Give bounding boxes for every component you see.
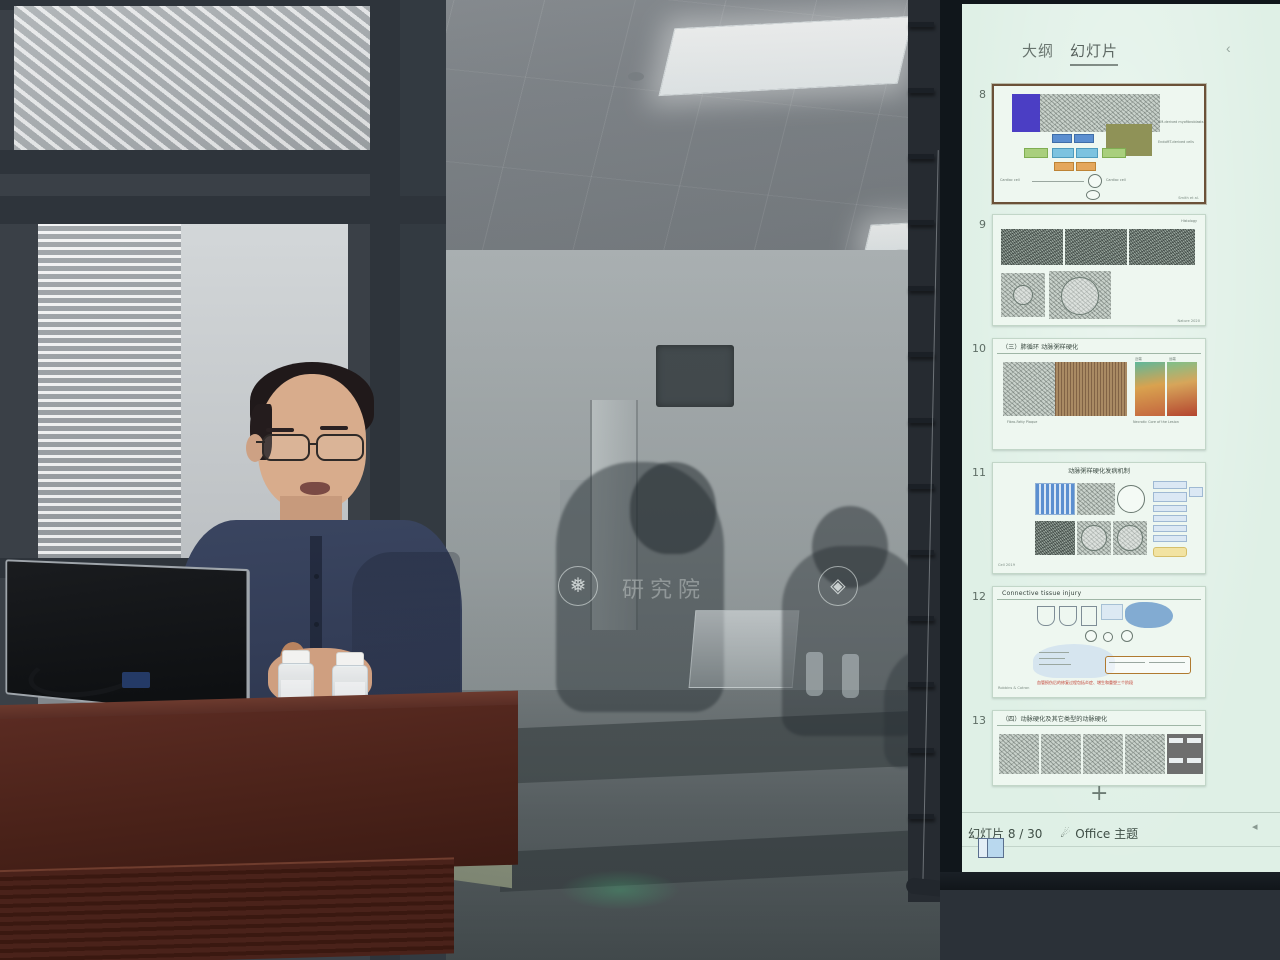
wall-mounted-display [656,345,734,407]
green-floor-reflection [560,870,680,910]
shirt-button-2 [314,622,319,627]
slide-thumbnail-list[interactable]: 8 Cardi [962,66,1280,816]
presenter-mouth-speaking [300,482,330,495]
slide-thumbnail-8[interactable]: Cardiac cell Cardiac cell CM-derived myo… [992,84,1206,204]
slide-number: 10 [962,338,992,355]
slide-number: 12 [962,586,992,603]
slide-credit: Cell 2019 [998,563,1015,567]
conference-room-scene: ❅ ◈ 研究院 [0,0,960,960]
slide-credit: Robbins & Cotran [998,686,1029,690]
window-frame-lower [0,196,446,224]
slide-thumbnail-11[interactable]: 动脉粥样硬化发病机制 [992,462,1206,574]
podium-front-panel [0,705,518,880]
slide-credit: Nature 2020 [1178,319,1200,323]
window-blinds-upper [14,6,384,154]
slide-thumbnail-row[interactable]: 10 （三）肺循环 动脉粥样硬化 近端 远端 Fibro-Fatty Plaqu… [962,338,1280,450]
slide-number: 11 [962,462,992,479]
slide-content: Cell 2019 [993,477,1205,569]
slide-red-annotation: 血管损伤后的修复过程包括炎症、增生和重塑三个阶段 [1037,680,1133,686]
reflection-head-left [630,462,716,554]
slide-thumbnail-row[interactable]: 8 Cardi [962,84,1280,204]
theme-label: Office 主题 [1075,825,1138,842]
normal-view-icon[interactable] [978,838,1004,858]
tab-outline[interactable]: 大纲 [1022,40,1054,64]
reflection-bottle-a [806,652,823,696]
smoke-detector-icon [628,72,644,81]
glasses-lens-right [316,434,364,461]
slide-number: 8 [962,84,992,101]
wall-below-screen [940,890,1280,960]
podium [0,698,518,960]
snowflake-logo-icon: ❅ [558,566,598,606]
cable-label-tag [122,672,150,688]
slide-number: 9 [962,214,992,231]
chevron-left-small-icon[interactable]: ◂ [1252,820,1258,833]
diamond-logo-icon: ◈ [818,566,858,606]
slide-thumbnail-9[interactable]: Histology Nature 2020 [992,214,1206,326]
tab-slides[interactable]: 幻灯片 [1070,40,1118,66]
ceiling-light-panel [658,16,913,96]
chevron-left-icon[interactable]: ‹ [1226,40,1231,56]
slide-thumbnail-row[interactable]: 12 Connective tissue injury [962,586,1280,698]
window-blinds-lower [38,222,181,562]
glasses-bridge [310,443,318,445]
status-divider-lower [962,846,1280,847]
theme-icon: ☄ [1060,827,1070,840]
reflection-wall-signage: 研究院 [622,572,706,604]
view-icon-right-pane [988,839,1003,857]
presenter-glasses [256,434,374,462]
presenter-eyebrow-left [266,428,294,432]
slide-number: 13 [962,710,992,727]
slide-content: 血管损伤后的修复过程包括炎症、增生和重塑三个阶段 Robbins & Cotra… [993,600,1205,692]
slide-title: 动脉粥样硬化发病机制 [997,463,1201,477]
slide-caption-right: Necrotic Core of the Lesion [1133,420,1179,424]
slide-content [993,726,1205,782]
status-bar: 幻灯片 8 / 30 ☄ Office 主题 [962,818,1280,848]
panel-tabs: 大纲 幻灯片 [1022,40,1118,66]
slide-header-note: Histology [1181,219,1197,223]
podium-laptop[interactable] [5,559,249,719]
slide-thumbnail-row[interactable]: 11 动脉粥样硬化发病机制 [962,462,1280,574]
slide-content: Cardiac cell Cardiac cell CM-derived myo… [994,86,1204,202]
callout-label-1: CM-derived myofibroblasts [1158,120,1204,124]
presenter-eyebrow-right [320,426,348,430]
slide-thumbnail-12[interactable]: Connective tissue injury [992,586,1206,698]
slide-content: 近端 远端 Fibro-Fatty Plaque Necrotic Core o… [993,354,1205,446]
diagram-label-right: Cardiac cell [1106,178,1126,182]
slide-caption-left: Fibro-Fatty Plaque [1007,420,1037,424]
slide-thumbnail-10[interactable]: （三）肺循环 动脉粥样硬化 近端 远端 Fibro-Fatty Plaque N… [992,338,1206,450]
slide-thumbnail-row[interactable]: 9 Histology Nature 2020 [962,214,1280,326]
slide-thumbnail-13[interactable]: （四）动脉硬化及其它类型的动脉硬化 [992,710,1206,786]
diagram-label-left: Cardiac cell [1000,178,1020,182]
podium-base [0,859,454,960]
slide-content: Histology Nature 2020 [993,215,1205,325]
add-slide-button[interactable]: + [1090,783,1108,805]
slide-thumbnail-row[interactable]: 13 （四）动脉硬化及其它类型的动脉硬化 [962,710,1280,786]
status-divider [962,812,1280,813]
reflection-bottle-b [842,654,859,698]
glasses-temple [256,441,265,443]
slide-credit: Smith et al. [1178,196,1199,200]
slide-title: Connective tissue injury [997,587,1201,600]
glasses-lens-left [262,434,310,461]
callout-label-2: EndoMT-derived cells [1158,140,1194,144]
view-icon-left-pane [979,839,988,857]
window-upper-pane [14,6,384,154]
theme-indicator[interactable]: ☄ Office 主题 [1060,825,1138,842]
slide-title: （三）肺循环 动脉粥样硬化 [997,339,1201,354]
screenshot-root: ❅ ◈ 研究院 [0,0,1280,960]
shirt-button-1 [314,574,319,579]
slide-title: （四）动脉硬化及其它类型的动脉硬化 [997,711,1201,726]
